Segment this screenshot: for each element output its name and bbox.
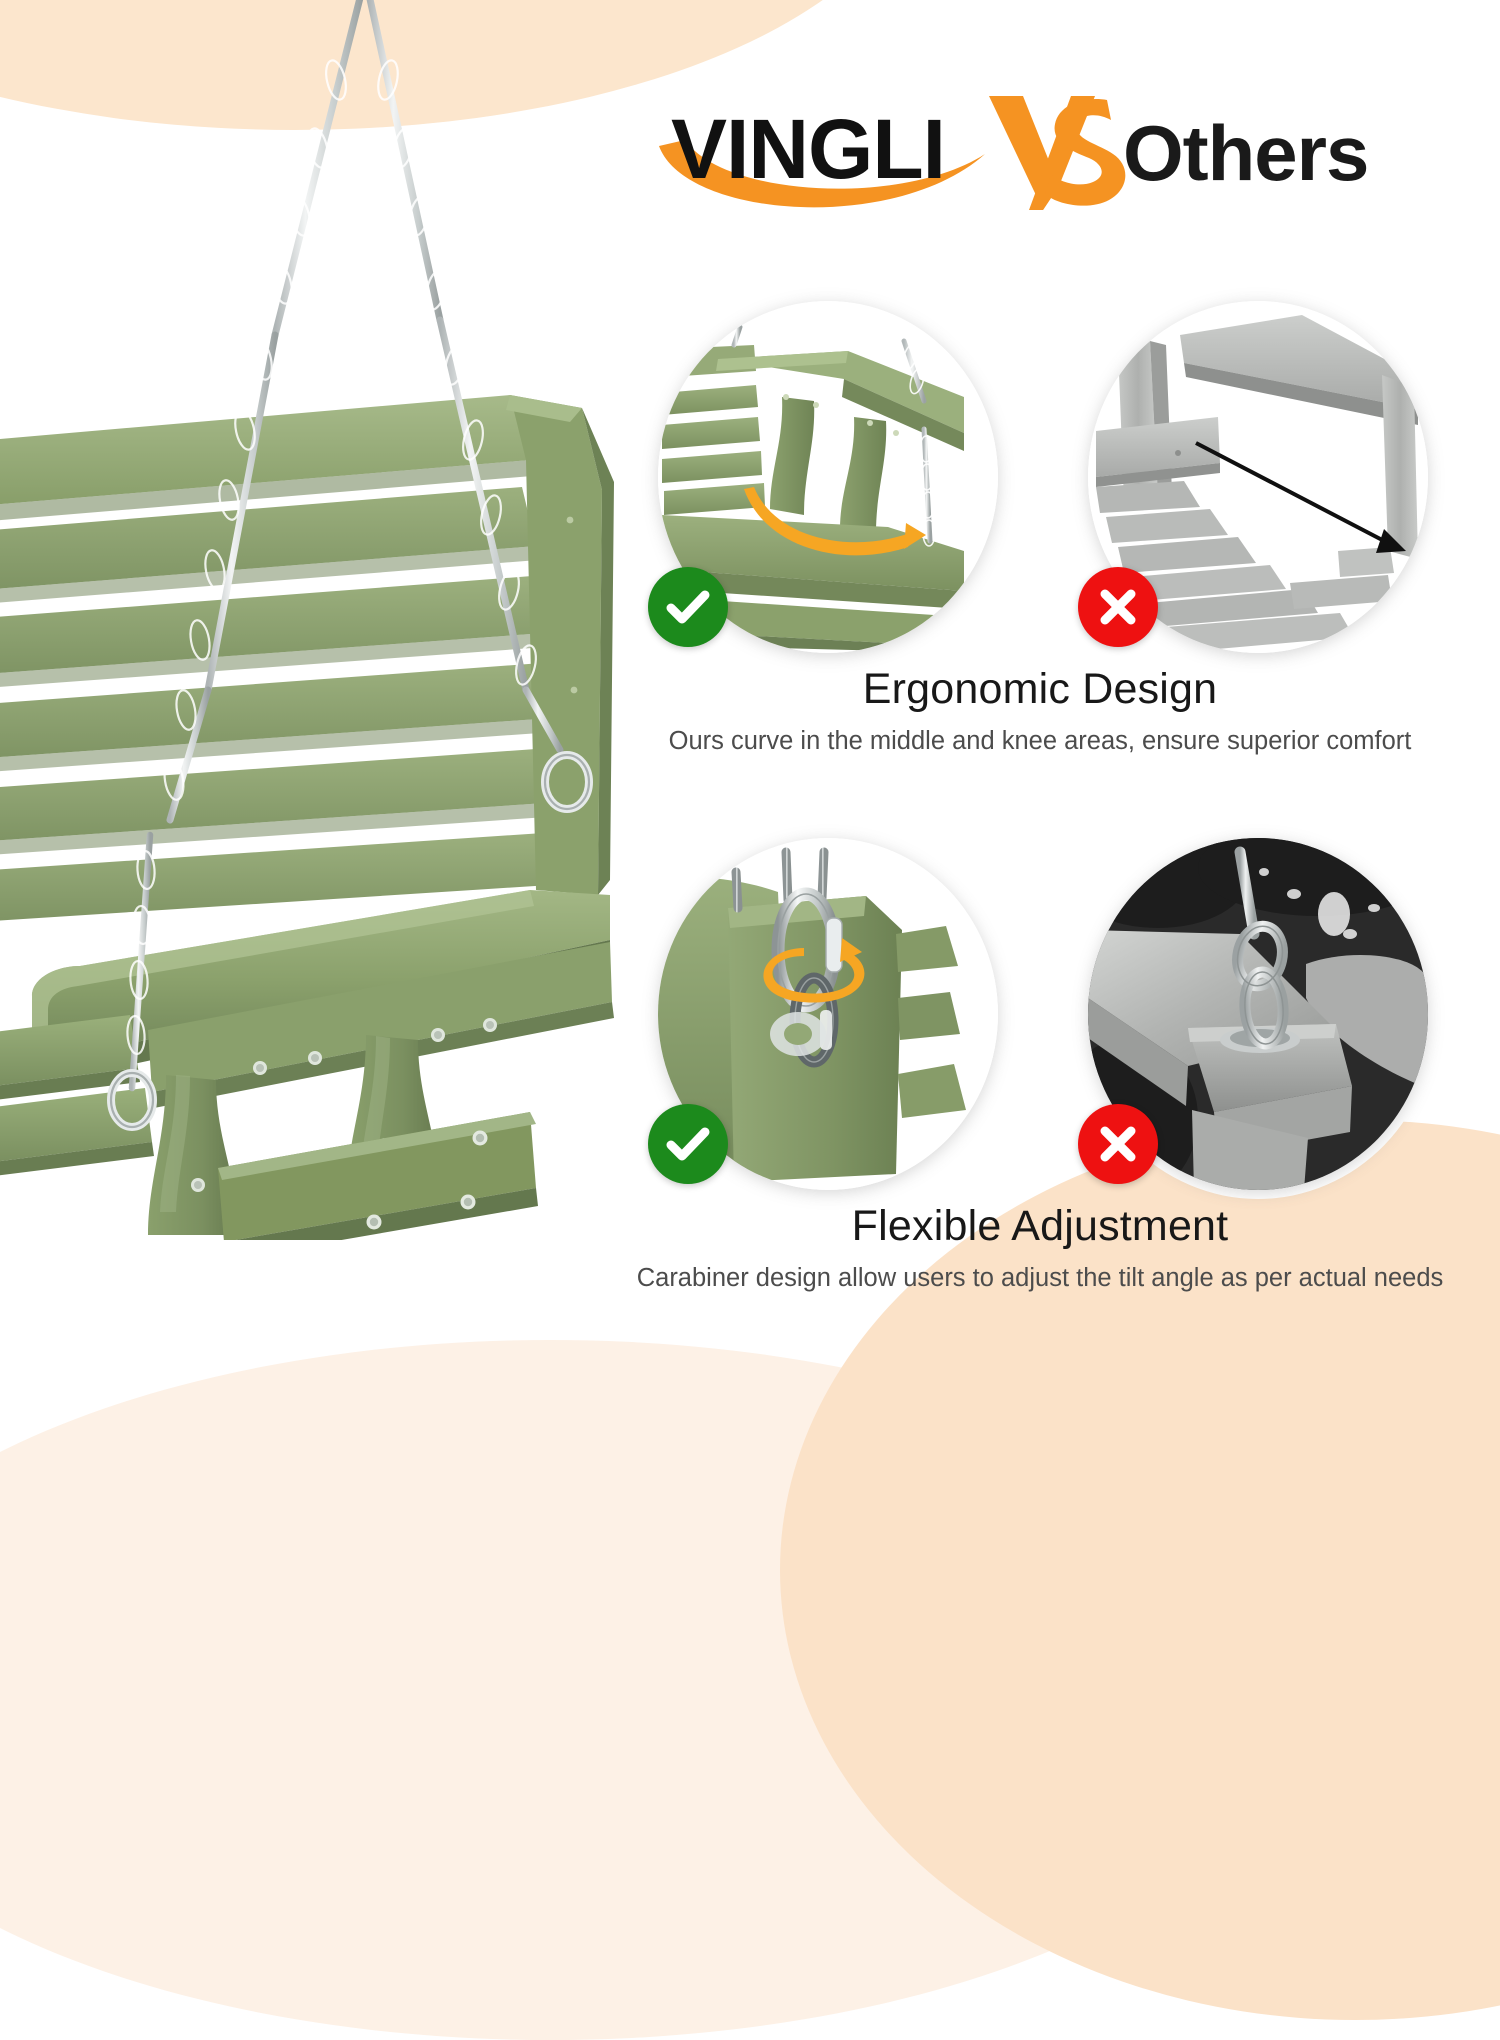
feature-title: Flexible Adjustment xyxy=(600,1204,1480,1250)
brand-versus-header: VINGLI Others xyxy=(655,82,1445,217)
brand-name: VINGLI xyxy=(671,102,945,196)
status-badge-good xyxy=(648,1104,728,1184)
check-icon xyxy=(660,579,716,635)
cross-icon xyxy=(1090,1116,1146,1172)
feature-title: Ergonomic Design xyxy=(600,667,1480,713)
status-badge-bad xyxy=(1078,567,1158,647)
comparison-row xyxy=(600,832,1480,1200)
infographic-canvas: VINGLI Others xyxy=(0,0,1500,1500)
status-badge-good xyxy=(648,567,728,647)
feature-block-ergonomic-design: Ergonomic Design Ours curve in the middl… xyxy=(600,295,1480,756)
hero-product-image xyxy=(0,0,630,1240)
feature-subtitle: Ours curve in the middle and knee areas,… xyxy=(600,726,1480,757)
comparison-row xyxy=(600,295,1480,663)
competitor-name: Others xyxy=(1123,109,1368,197)
check-icon xyxy=(660,1116,716,1172)
feature-block-flexible-adjustment: Flexible Adjustment Carabiner design all… xyxy=(600,832,1480,1293)
status-badge-bad xyxy=(1078,1104,1158,1184)
backrest-slats xyxy=(0,395,566,925)
versus-mark xyxy=(989,96,1125,210)
seat-rails xyxy=(0,1015,154,1184)
feature-subtitle: Carabiner design allow users to adjust t… xyxy=(600,1263,1480,1294)
cross-icon xyxy=(1090,579,1146,635)
